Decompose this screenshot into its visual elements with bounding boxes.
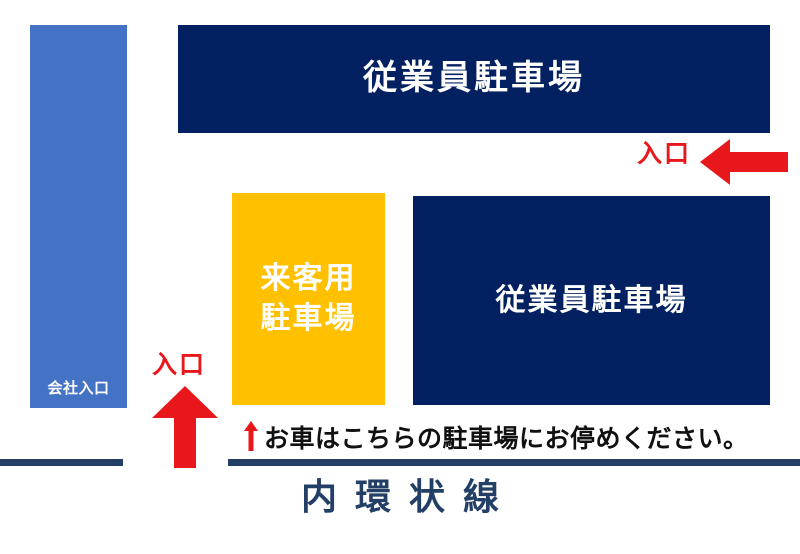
employee-parking-top-label: 従業員駐車場 xyxy=(363,60,585,97)
entrance-label-bottom: 入口 xyxy=(152,352,206,377)
visitor-parking-label-line1: 来客用 xyxy=(261,259,357,300)
employee-parking-right-block: 従業員駐車場 xyxy=(413,196,770,405)
company-entrance-block: 会社入口 xyxy=(30,25,127,408)
visitor-parking-label-line2: 駐車場 xyxy=(261,299,357,340)
road-line-right-segment xyxy=(228,459,800,466)
parking-map-diagram: 会社入口 従業員駐車場 来客用 駐車場 従業員駐車場 入口 入口 お車はこちらの… xyxy=(0,0,800,554)
road-line-left-segment xyxy=(0,459,123,466)
arrow-up-icon xyxy=(152,386,218,468)
road-name-label: 内環状線 xyxy=(0,476,800,519)
company-entrance-label: 会社入口 xyxy=(47,381,109,396)
employee-parking-top-block: 従業員駐車場 xyxy=(178,25,770,133)
employee-parking-right-label: 従業員駐車場 xyxy=(496,284,688,317)
parking-instruction-text: お車はこちらの駐車場にお停めください。 xyxy=(264,418,774,456)
arrow-up-inline-icon xyxy=(244,421,258,451)
visitor-parking-block: 来客用 駐車場 xyxy=(232,193,385,405)
entrance-label-right: 入口 xyxy=(637,141,691,166)
arrow-left-icon xyxy=(700,139,788,185)
